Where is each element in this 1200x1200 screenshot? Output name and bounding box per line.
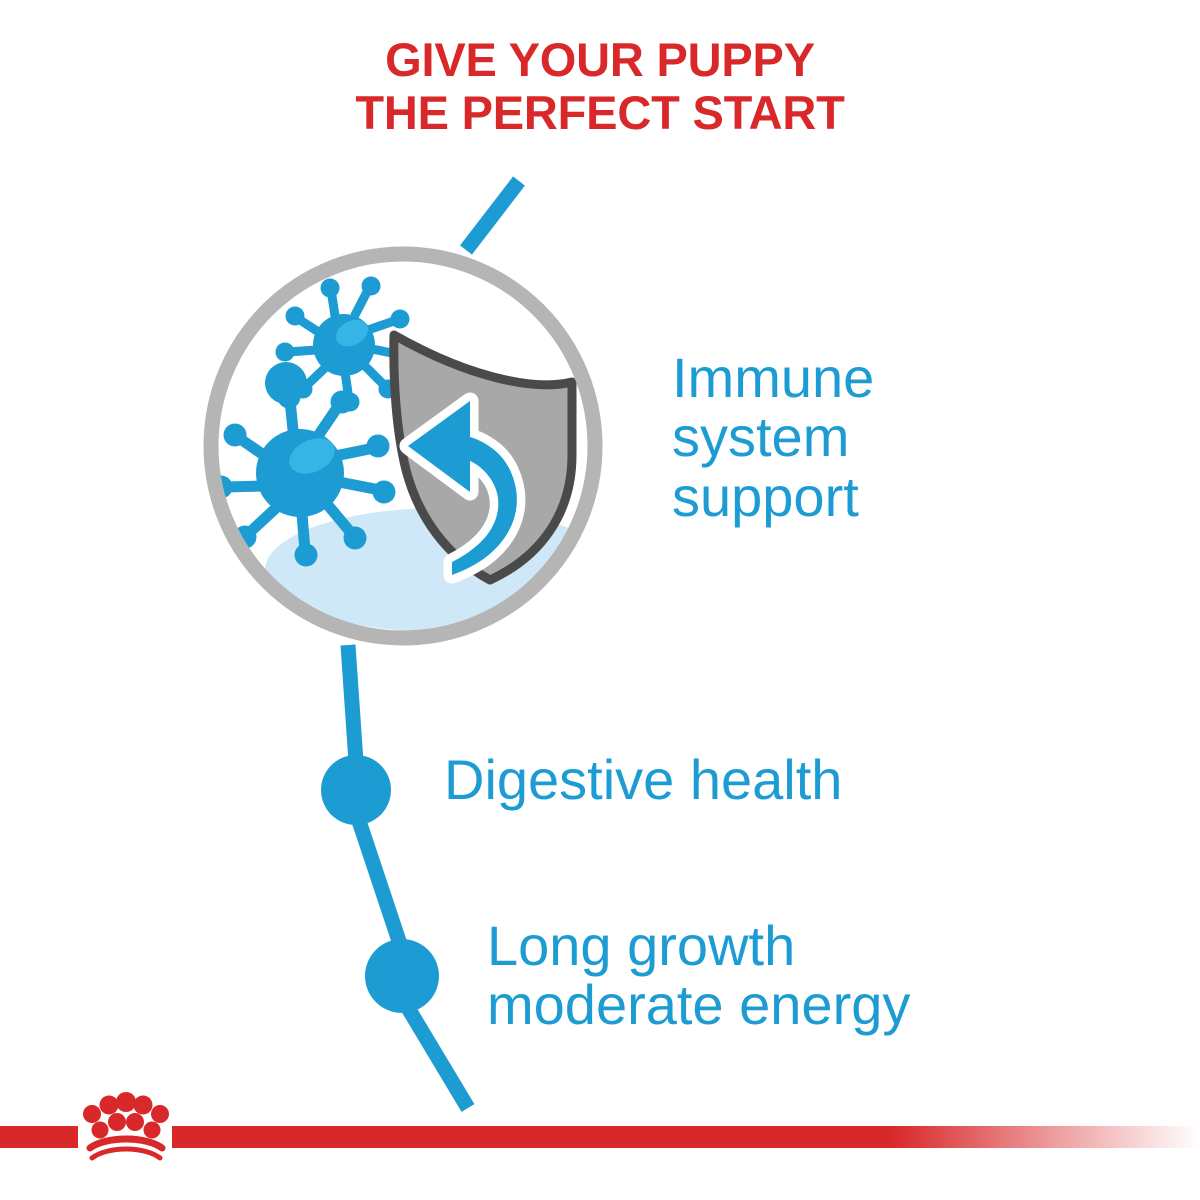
connector-segment-top (466, 181, 519, 250)
royal-canin-crown-logo (78, 1092, 174, 1172)
benefit-label-immune: Immune system support (672, 348, 1102, 526)
connector-segment-2 (358, 818, 400, 944)
icon-interior (210, 277, 616, 633)
virus-dot-icon (265, 362, 307, 404)
pale-blue-ellipse (265, 508, 615, 632)
benefit-label-digestive: Digestive health (444, 751, 1064, 809)
brand-bar (0, 1126, 1200, 1148)
connector-segment-3 (408, 1008, 468, 1108)
icon-disc-background (211, 254, 595, 638)
arrow-halo (408, 401, 517, 575)
poster-canvas: GIVE YOUR PUPPY THE PERFECT START Immune… (0, 0, 1200, 1200)
shield-icon (394, 335, 572, 580)
immune-icon-group (210, 254, 616, 638)
brand-bar-left-segment (0, 1126, 78, 1148)
virus-large-icon (210, 386, 396, 567)
arrow-body (408, 401, 517, 575)
connector-dot-growth (365, 939, 439, 1013)
brand-bar-right-segment (172, 1126, 1200, 1148)
crown-dots (83, 1092, 169, 1139)
icon-ring-circle (211, 254, 595, 638)
benefit-label-growth: Long growth moderate energy (487, 916, 1147, 1035)
connector-dot-digestive (321, 755, 391, 825)
shield-body (394, 335, 572, 580)
virus-small-icon (276, 277, 415, 412)
curved-arrow-icon (408, 401, 517, 575)
page-title: GIVE YOUR PUPPY THE PERFECT START (0, 34, 1200, 139)
headline-line-2: THE PERFECT START (0, 87, 1200, 140)
connector-segment-1 (348, 645, 356, 762)
headline-line-1: GIVE YOUR PUPPY (0, 34, 1200, 87)
crown-arcs (90, 1139, 162, 1158)
